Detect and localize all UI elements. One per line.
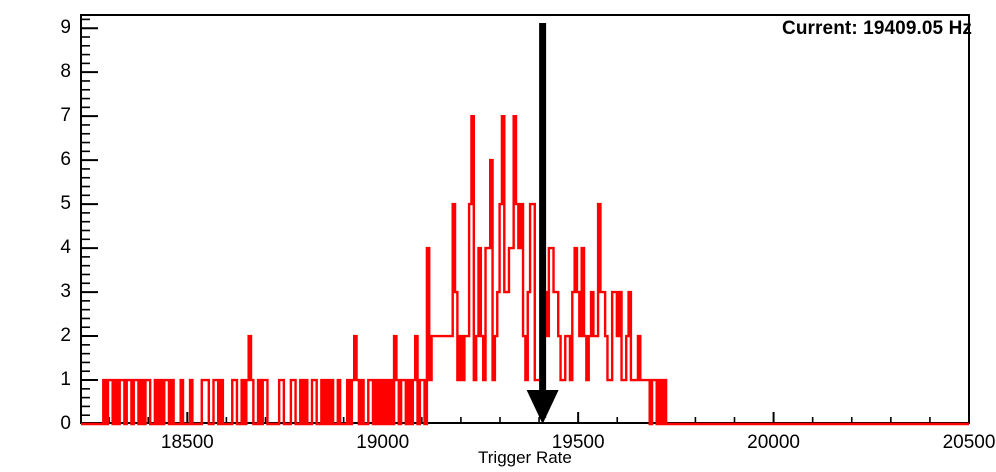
x-tick-label: 18500 [127, 433, 247, 452]
histogram-svg [0, 0, 996, 472]
current-value-marker [527, 23, 559, 424]
chart-canvas: 0123456789 1850019000195002000020500 Tri… [0, 0, 996, 472]
current-marker-arrowhead [527, 390, 559, 424]
current-rate-readout: Current: 19409.05 Hz [782, 18, 972, 40]
y-tick-label: 8 [41, 62, 71, 81]
x-tick-label: 20000 [714, 433, 834, 452]
y-tick-label: 2 [41, 326, 71, 345]
x-tick-label: 20500 [909, 433, 996, 452]
x-tick-label: 19000 [323, 433, 443, 452]
y-tick-label: 4 [41, 238, 71, 257]
y-tick-label: 3 [41, 282, 71, 301]
y-tick-label: 5 [41, 194, 71, 213]
y-tick-label: 1 [41, 370, 71, 389]
y-tick-label: 9 [41, 18, 71, 37]
y-axis-ticks [81, 19, 98, 424]
histogram-trace [81, 116, 969, 424]
x-axis-title: Trigger Rate [478, 448, 572, 468]
y-tick-label: 7 [41, 106, 71, 125]
y-tick-label: 6 [41, 150, 71, 169]
y-tick-label: 0 [41, 414, 71, 433]
